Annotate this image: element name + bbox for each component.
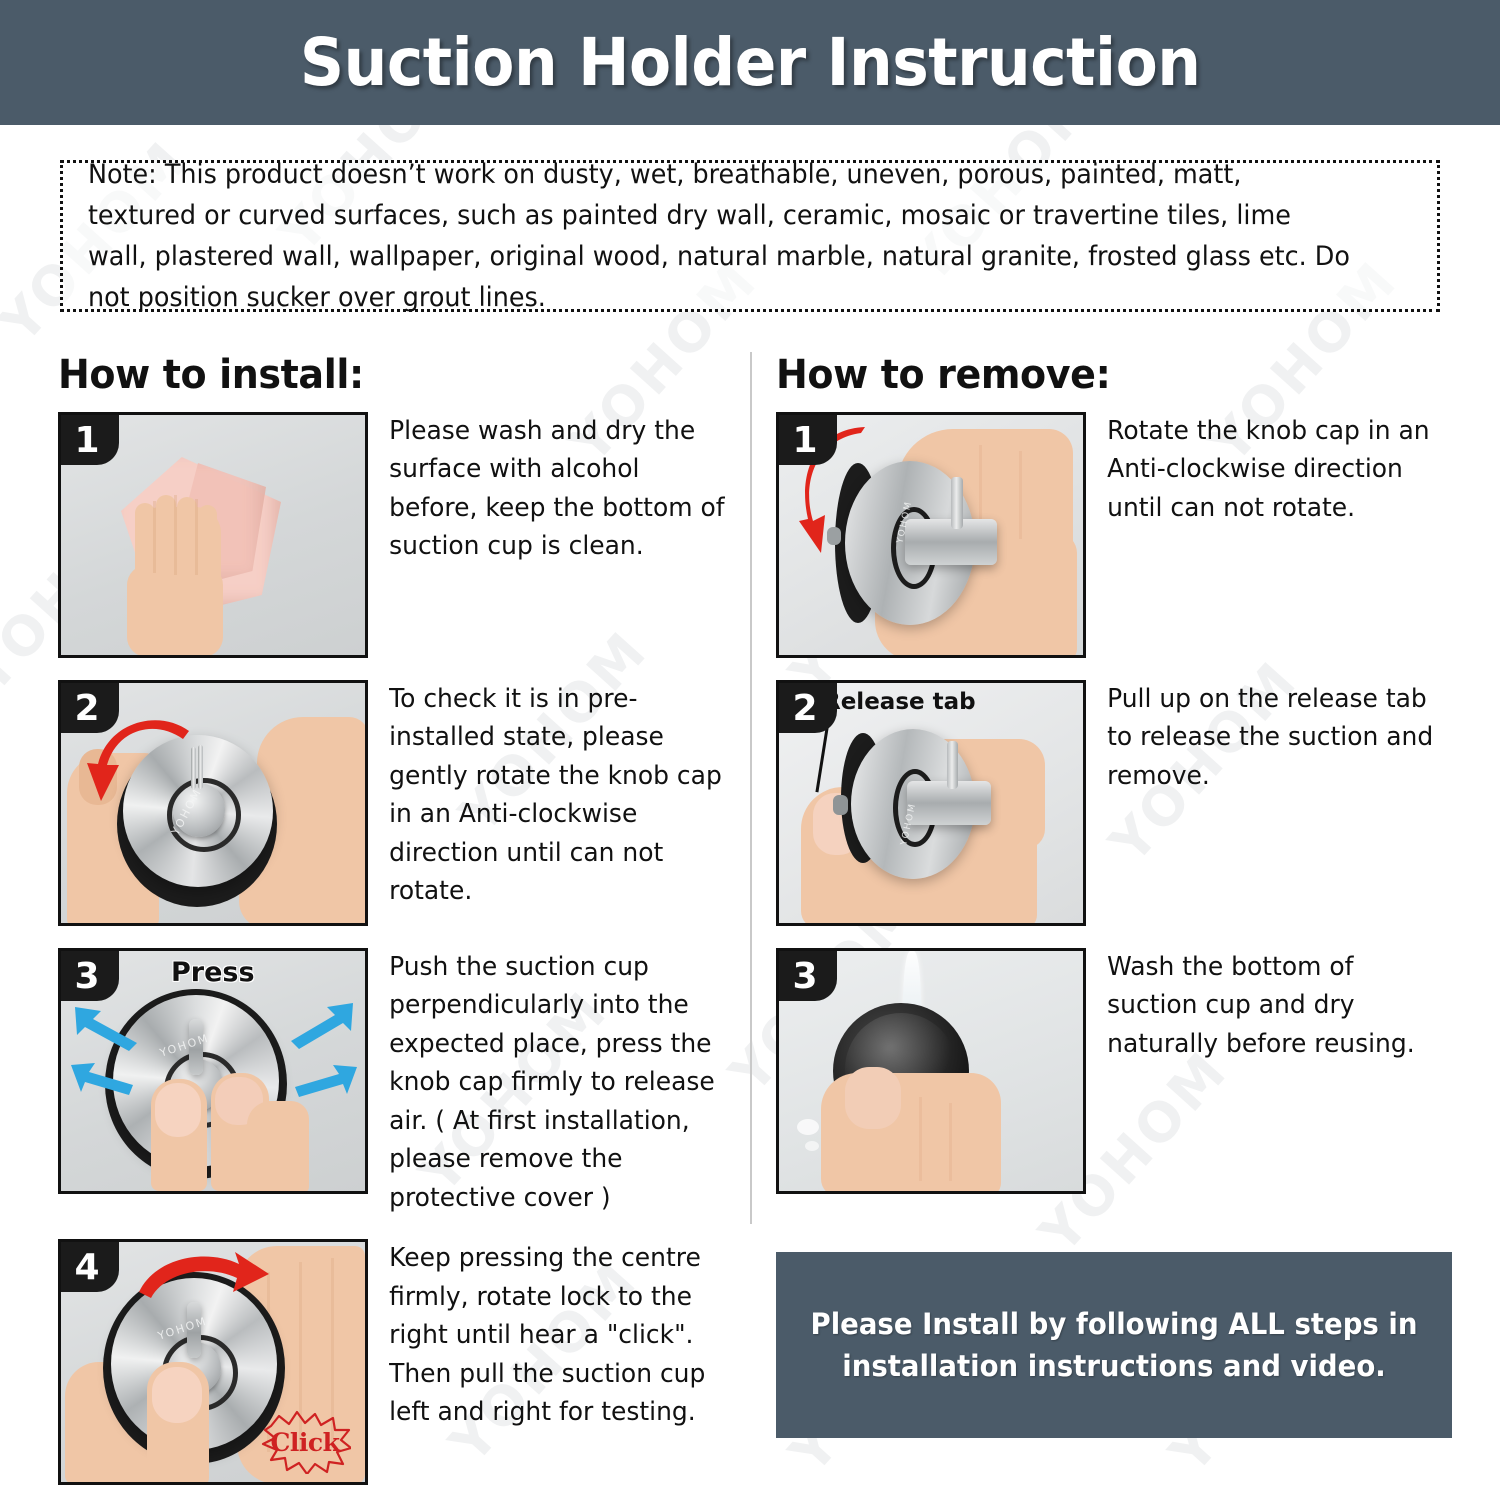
blue-arrow-up-left-icon bbox=[71, 1003, 141, 1051]
install-step-2: YOHOM 2 To check it is in pre-installed … bbox=[58, 680, 748, 926]
remove-step-2: YOHOM Release tab 2 Pull up on the relea… bbox=[776, 680, 1466, 926]
press-label: Press bbox=[171, 957, 255, 988]
red-anticlockwise-arrow-icon bbox=[87, 717, 199, 827]
remove-step-1: YOHOM 1 Rotate the knob cap in an Anti-c… bbox=[776, 412, 1466, 658]
bottom-banner-text: Please Install by following ALL steps in… bbox=[793, 1303, 1435, 1387]
header-band: Suction Holder Instruction bbox=[0, 0, 1500, 125]
remove-step-3: 3 Wash the bottom of suction cup and dry… bbox=[776, 948, 1466, 1194]
click-label: Click bbox=[271, 1428, 340, 1457]
install-step-1-text: Please wash and dry the surface with alc… bbox=[368, 412, 733, 566]
install-step-4-text: Keep pressing the centre firmly, rotate … bbox=[368, 1239, 733, 1431]
bottom-banner: Please Install by following ALL steps in… bbox=[776, 1252, 1452, 1438]
remove-step-2-text: Pull up on the release tab to release th… bbox=[1086, 680, 1451, 795]
install-step-3-photo: YOHOM Press bbox=[58, 948, 368, 1194]
note-box: Note: This product doesn’t work on dusty… bbox=[60, 160, 1440, 312]
blue-arrow-up-right-icon bbox=[287, 999, 357, 1049]
install-column: How to install: 1 Please wash and bbox=[58, 352, 748, 1507]
install-step-3-text: Push the suction cup perpendicularly int… bbox=[368, 948, 733, 1217]
install-step-2-badge: 2 bbox=[61, 683, 119, 733]
note-text: Note: This product doesn’t work on dusty… bbox=[63, 154, 1382, 318]
install-step-4-badge: 4 bbox=[61, 1242, 119, 1292]
release-tab-label: Release tab bbox=[823, 689, 976, 715]
blue-arrow-right-icon bbox=[293, 1061, 359, 1101]
install-step-3: YOHOM Press bbox=[58, 948, 748, 1217]
install-step-3-badge: 3 bbox=[61, 951, 119, 1001]
install-step-2-photo: YOHOM 2 bbox=[58, 680, 368, 926]
remove-step-2-badge: 2 bbox=[779, 683, 837, 733]
remove-step-3-text: Wash the bottom of suction cup and dry n… bbox=[1086, 948, 1451, 1063]
remove-step-3-badge: 3 bbox=[779, 951, 837, 1001]
install-heading: How to install: bbox=[58, 352, 714, 398]
red-clockwise-arrow-icon bbox=[135, 1248, 271, 1314]
install-step-1-photo: 1 bbox=[58, 412, 368, 658]
install-step-1: 1 Please wash and dry the surface with a… bbox=[58, 412, 748, 658]
remove-step-3-photo: 3 bbox=[776, 948, 1086, 1194]
install-step-1-badge: 1 bbox=[61, 415, 119, 465]
install-step-4: YOHOM Click 4 Keep pressing the centre f… bbox=[58, 1239, 748, 1485]
column-divider bbox=[750, 352, 752, 1224]
remove-step-1-badge: 1 bbox=[779, 415, 837, 465]
install-step-4-photo: YOHOM Click 4 bbox=[58, 1239, 368, 1485]
install-step-2-text: To check it is in pre-installed state, p… bbox=[368, 680, 733, 911]
remove-step-2-photo: YOHOM Release tab 2 bbox=[776, 680, 1086, 926]
blue-arrow-left-icon bbox=[69, 1059, 135, 1099]
remove-step-1-text: Rotate the knob cap in an Anti-clockwise… bbox=[1086, 412, 1451, 527]
remove-column: How to remove: YOHOM bbox=[776, 352, 1466, 1216]
remove-step-1-photo: YOHOM 1 bbox=[776, 412, 1086, 658]
click-badge: Click bbox=[259, 1410, 351, 1474]
remove-heading: How to remove: bbox=[776, 352, 1432, 398]
page-title: Suction Holder Instruction bbox=[300, 24, 1201, 101]
